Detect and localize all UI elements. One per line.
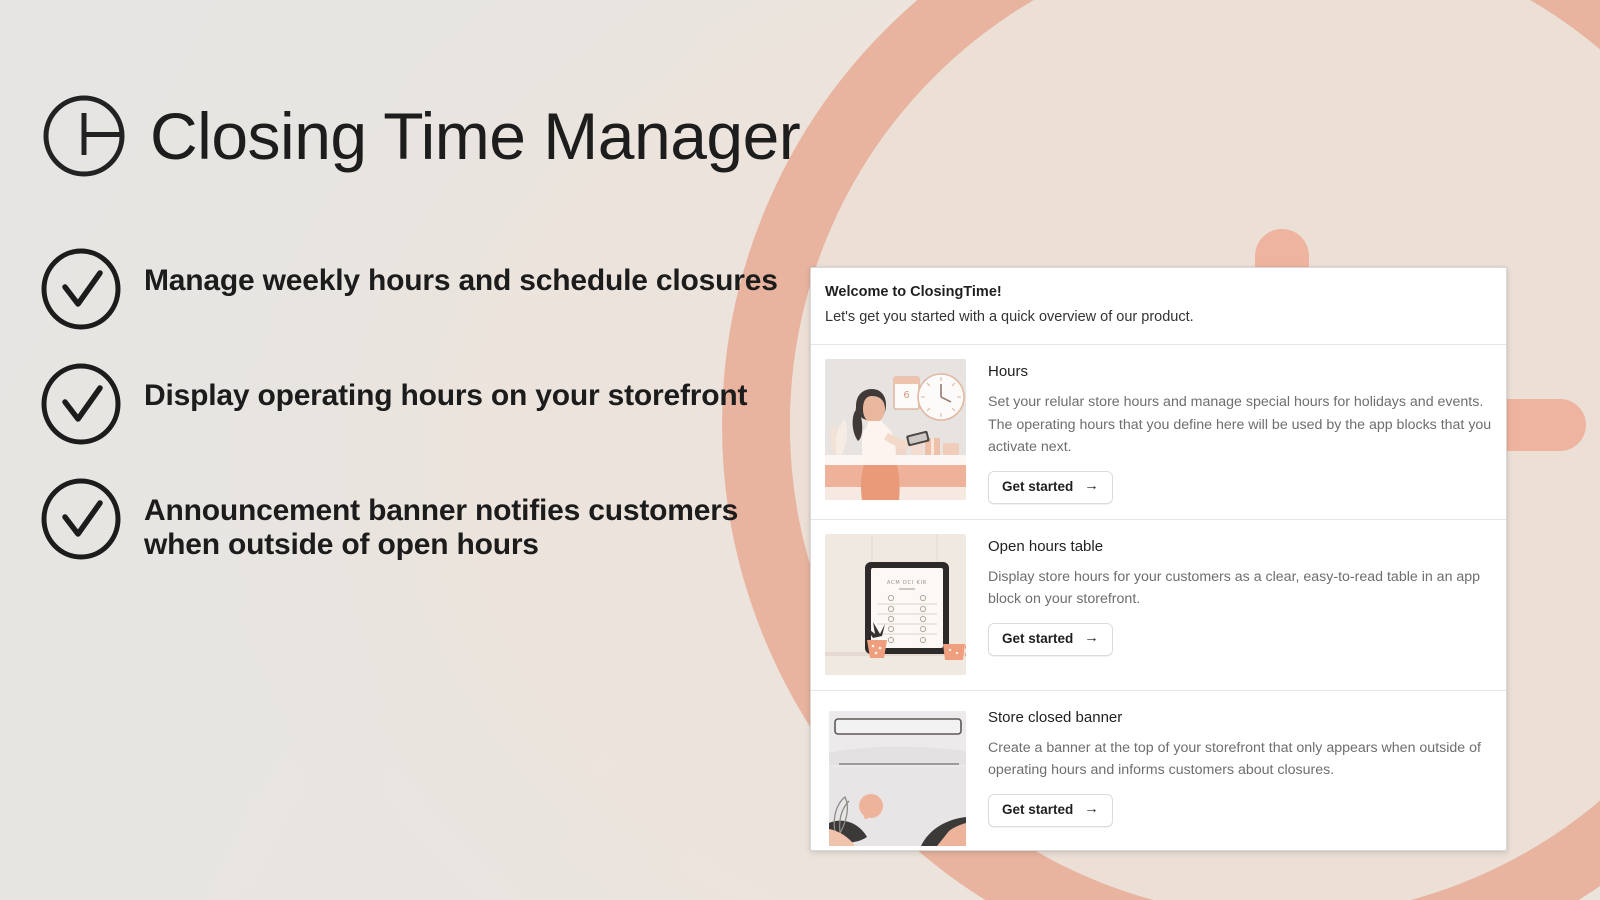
marketing-column: Closing Time Manager Manage weekly hours… [40,92,820,561]
feature-list: Manage weekly hours and schedule closure… [40,258,820,561]
row-description: Create a banner at the top of your store… [988,737,1492,782]
get-started-label: Get started [1002,802,1073,818]
onboarding-row: ACM DCI KIR [811,520,1506,691]
feature-item: Announcement banner notifies customers w… [40,488,820,561]
onboarding-row: 6 [811,345,1506,520]
row-description: Set your relular store hours and manage … [988,391,1492,458]
tablet-hours-table-illustration: ACM DCI KIR [825,534,966,675]
feature-item: Manage weekly hours and schedule closure… [40,258,820,330]
arrow-right-icon: → [1084,479,1099,494]
row-title: Store closed banner [988,707,1492,728]
onboarding-row: Store closed banner Create a banner at t… [811,691,1506,851]
page-title: Closing Time Manager [150,103,800,169]
feature-item: Display operating hours on your storefro… [40,373,820,445]
check-circle-icon [40,363,122,445]
feature-label: Manage weekly hours and schedule closure… [144,258,778,298]
storefront-banner-illustration [825,705,966,846]
clock-circle-icon [40,92,128,180]
arrow-right-icon: → [1084,802,1099,817]
row-description: Display store hours for your customers a… [988,566,1492,611]
feature-label: Announcement banner notifies customers w… [144,488,784,561]
row-title: Open hours table [988,536,1492,557]
get-started-button-hours[interactable]: Get started → [988,471,1113,504]
check-circle-icon [40,248,122,330]
svg-text:ACM DCI KIR: ACM DCI KIR [887,580,927,586]
get-started-button-open-hours-table[interactable]: Get started → [988,623,1113,656]
panel-welcome-title: Welcome to ClosingTime! [825,282,1492,304]
panel-header: Welcome to ClosingTime! Let's get you st… [811,268,1506,345]
get-started-label: Get started [1002,631,1073,647]
onboarding-row-body: Store closed banner Create a banner at t… [988,705,1492,846]
onboarding-panel: Welcome to ClosingTime! Let's get you st… [810,267,1507,851]
get-started-label: Get started [1002,479,1073,495]
shopkeeper-with-clock-illustration: 6 [825,359,966,500]
svg-text:6: 6 [903,390,909,401]
feature-label: Display operating hours on your storefro… [144,373,747,413]
brand-header: Closing Time Manager [40,92,820,180]
panel-welcome-subtitle: Let's get you started with a quick overv… [825,306,1492,328]
onboarding-row-body: Open hours table Display store hours for… [988,534,1492,675]
get-started-button-store-closed-banner[interactable]: Get started → [988,794,1113,827]
row-title: Hours [988,361,1492,382]
arrow-right-icon: → [1084,631,1099,646]
onboarding-row-body: Hours Set your relular store hours and m… [988,359,1492,504]
check-circle-icon [40,478,122,560]
